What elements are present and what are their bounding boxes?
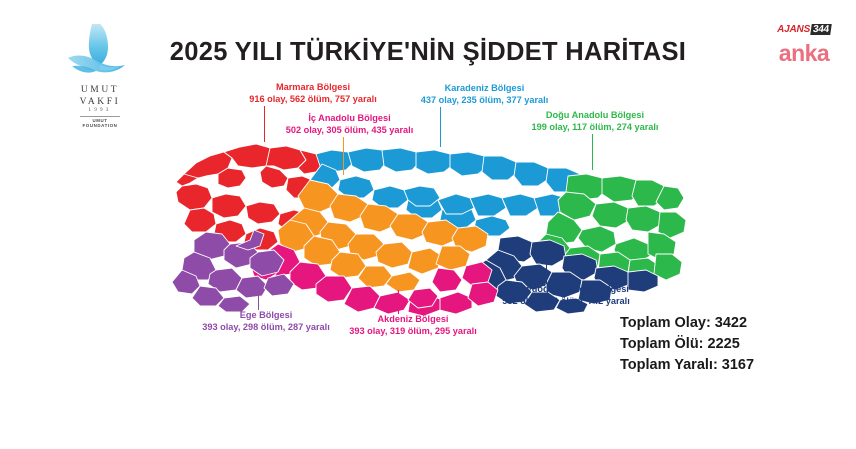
umut-logo-year: 1993	[62, 107, 138, 114]
callout-guneydogu-anadolu-name: Güneydoğu Anadolu Bölgesi	[466, 284, 666, 296]
callout-ic-anadolu: İç Anadolu Bölgesi 502 olay, 305 ölüm, 4…	[262, 113, 437, 136]
callout-karadeniz-name: Karadeniz Bölgesi	[377, 83, 592, 95]
ajans-logo-badge: 344	[810, 24, 831, 35]
umut-logo-divider	[80, 116, 120, 117]
callout-guneydogu-anadolu-stats: 582 olay, 389 ölüm, 742 yaralı	[466, 296, 666, 308]
callout-ic-anadolu-name: İç Anadolu Bölgesi	[262, 113, 437, 125]
total-olay: Toplam Olay: 3422	[620, 313, 754, 334]
totals-block: Toplam Olay: 3422 Toplam Ölü: 2225 Topla…	[620, 313, 754, 376]
leader-line-ege	[258, 288, 259, 310]
callout-akdeniz-stats: 393 olay, 319 ölüm, 295 yaralı	[327, 326, 499, 338]
umut-logo-line1: UMUT	[62, 85, 138, 96]
callout-guneydogu-anadolu: Güneydoğu Anadolu Bölgesi 582 olay, 389 …	[466, 284, 666, 307]
leader-line-ic-anadolu	[343, 137, 344, 175]
leader-line-akdeniz	[398, 290, 399, 314]
callout-dogu-anadolu: Doğu Anadolu Bölgesi 199 olay, 117 ölüm,…	[505, 110, 685, 133]
callout-ic-anadolu-stats: 502 olay, 305 ölüm, 435 yaralı	[262, 125, 437, 137]
leader-line-karadeniz	[440, 107, 441, 147]
ajans-logo-text: AJANS	[777, 24, 810, 35]
callout-akdeniz: Akdeniz Bölgesi 393 olay, 319 ölüm, 295 …	[327, 314, 499, 337]
total-olu: Toplam Ölü: 2225	[620, 334, 754, 355]
leader-line-dogu-anadolu	[592, 134, 593, 170]
umut-logo-line2: VAKFI	[62, 97, 138, 108]
callout-dogu-anadolu-stats: 199 olay, 117 ölüm, 274 yaralı	[505, 122, 685, 134]
page-title: 2025 YILI TÜRKİYE'NİN ŞİDDET HARİTASI	[0, 38, 856, 67]
callout-dogu-anadolu-name: Doğu Anadolu Bölgesi	[505, 110, 685, 122]
violence-map-infographic: UMUT VAKFI 1993 UMUT FOUNDATION AJANS 34…	[0, 0, 856, 449]
umut-logo-sub2: FOUNDATION	[62, 123, 138, 128]
total-yarali: Toplam Yaralı: 3167	[620, 355, 754, 376]
ajans-344-logo: AJANS 344	[766, 20, 842, 38]
callout-karadeniz: Karadeniz Bölgesi 437 olay, 235 ölüm, 37…	[377, 83, 592, 106]
callout-akdeniz-name: Akdeniz Bölgesi	[327, 314, 499, 326]
callout-karadeniz-stats: 437 olay, 235 ölüm, 377 yaralı	[377, 95, 592, 107]
leader-line-guneydogu-anadolu	[546, 262, 547, 284]
